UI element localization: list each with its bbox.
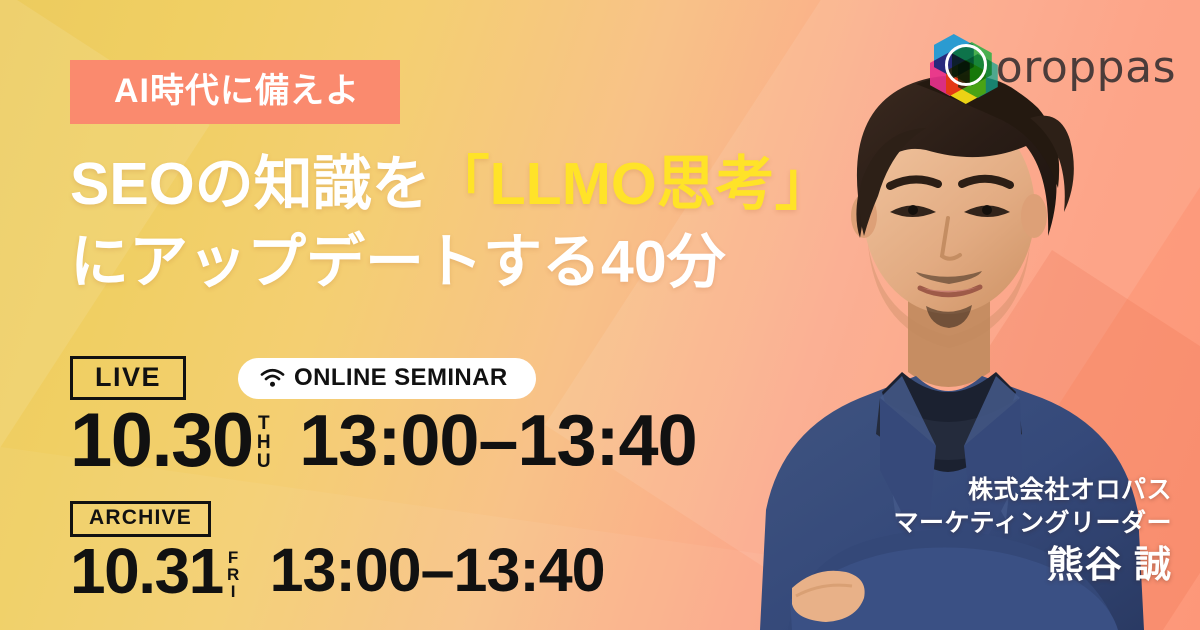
headline-line-1: SEOの知識を「LLMO思考」 (70, 146, 890, 224)
schedule: LIVE ONLINE SEMINAR 10.30 THU 13:00–13:4… (70, 356, 697, 603)
speaker-name: 熊谷 誠 (893, 542, 1172, 588)
headline-line-2: にアップデートする40分 (70, 224, 890, 302)
headline-line1-pre: SEOの知識を (70, 151, 431, 217)
archive-date-row: 10.31 FRI 13:00–13:40 (70, 540, 697, 603)
headline-highlight: 「LLMO思考」 (431, 151, 834, 217)
speaker-role: マーケティングリーダー (893, 507, 1172, 541)
live-badge-row: LIVE ONLINE SEMINAR (70, 356, 697, 400)
headline: SEOの知識を「LLMO思考」 にアップデートする40分 (70, 146, 890, 302)
seminar-banner: oroppas AI時代に備えよ SEOの知識を「LLMO思考」 にアップデート… (0, 0, 1200, 630)
logo-ring-icon (945, 44, 987, 86)
archive-time: 13:00–13:40 (270, 540, 605, 601)
live-badge: LIVE (70, 356, 186, 400)
content-column: AI時代に備えよ SEOの知識を「LLMO思考」 にアップデートする40分 LI… (0, 0, 760, 630)
eyebrow-badge: AI時代に備えよ (70, 60, 400, 124)
online-seminar-label: ONLINE SEMINAR (294, 366, 508, 390)
live-date: 10.30 (70, 404, 253, 478)
logo-wordmark: oroppas (996, 46, 1176, 90)
wifi-icon (260, 368, 285, 388)
hexagon-cluster-icon (928, 32, 1000, 100)
archive-badge: ARCHIVE (70, 501, 211, 537)
live-weekday: THU (256, 413, 272, 473)
speaker-credit: 株式会社オロパス マーケティングリーダー 熊谷 誠 (893, 474, 1172, 588)
archive-block: ARCHIVE 10.31 FRI 13:00–13:40 (70, 501, 697, 603)
speaker-company: 株式会社オロパス (893, 474, 1172, 508)
archive-weekday: FRI (226, 548, 240, 598)
archive-date: 10.31 (70, 540, 223, 603)
online-seminar-pill: ONLINE SEMINAR (238, 358, 536, 399)
oroppas-logo[interactable]: oroppas (928, 32, 1176, 100)
live-time: 13:00–13:40 (299, 405, 696, 477)
live-date-row: 10.30 THU 13:00–13:40 (70, 404, 697, 478)
